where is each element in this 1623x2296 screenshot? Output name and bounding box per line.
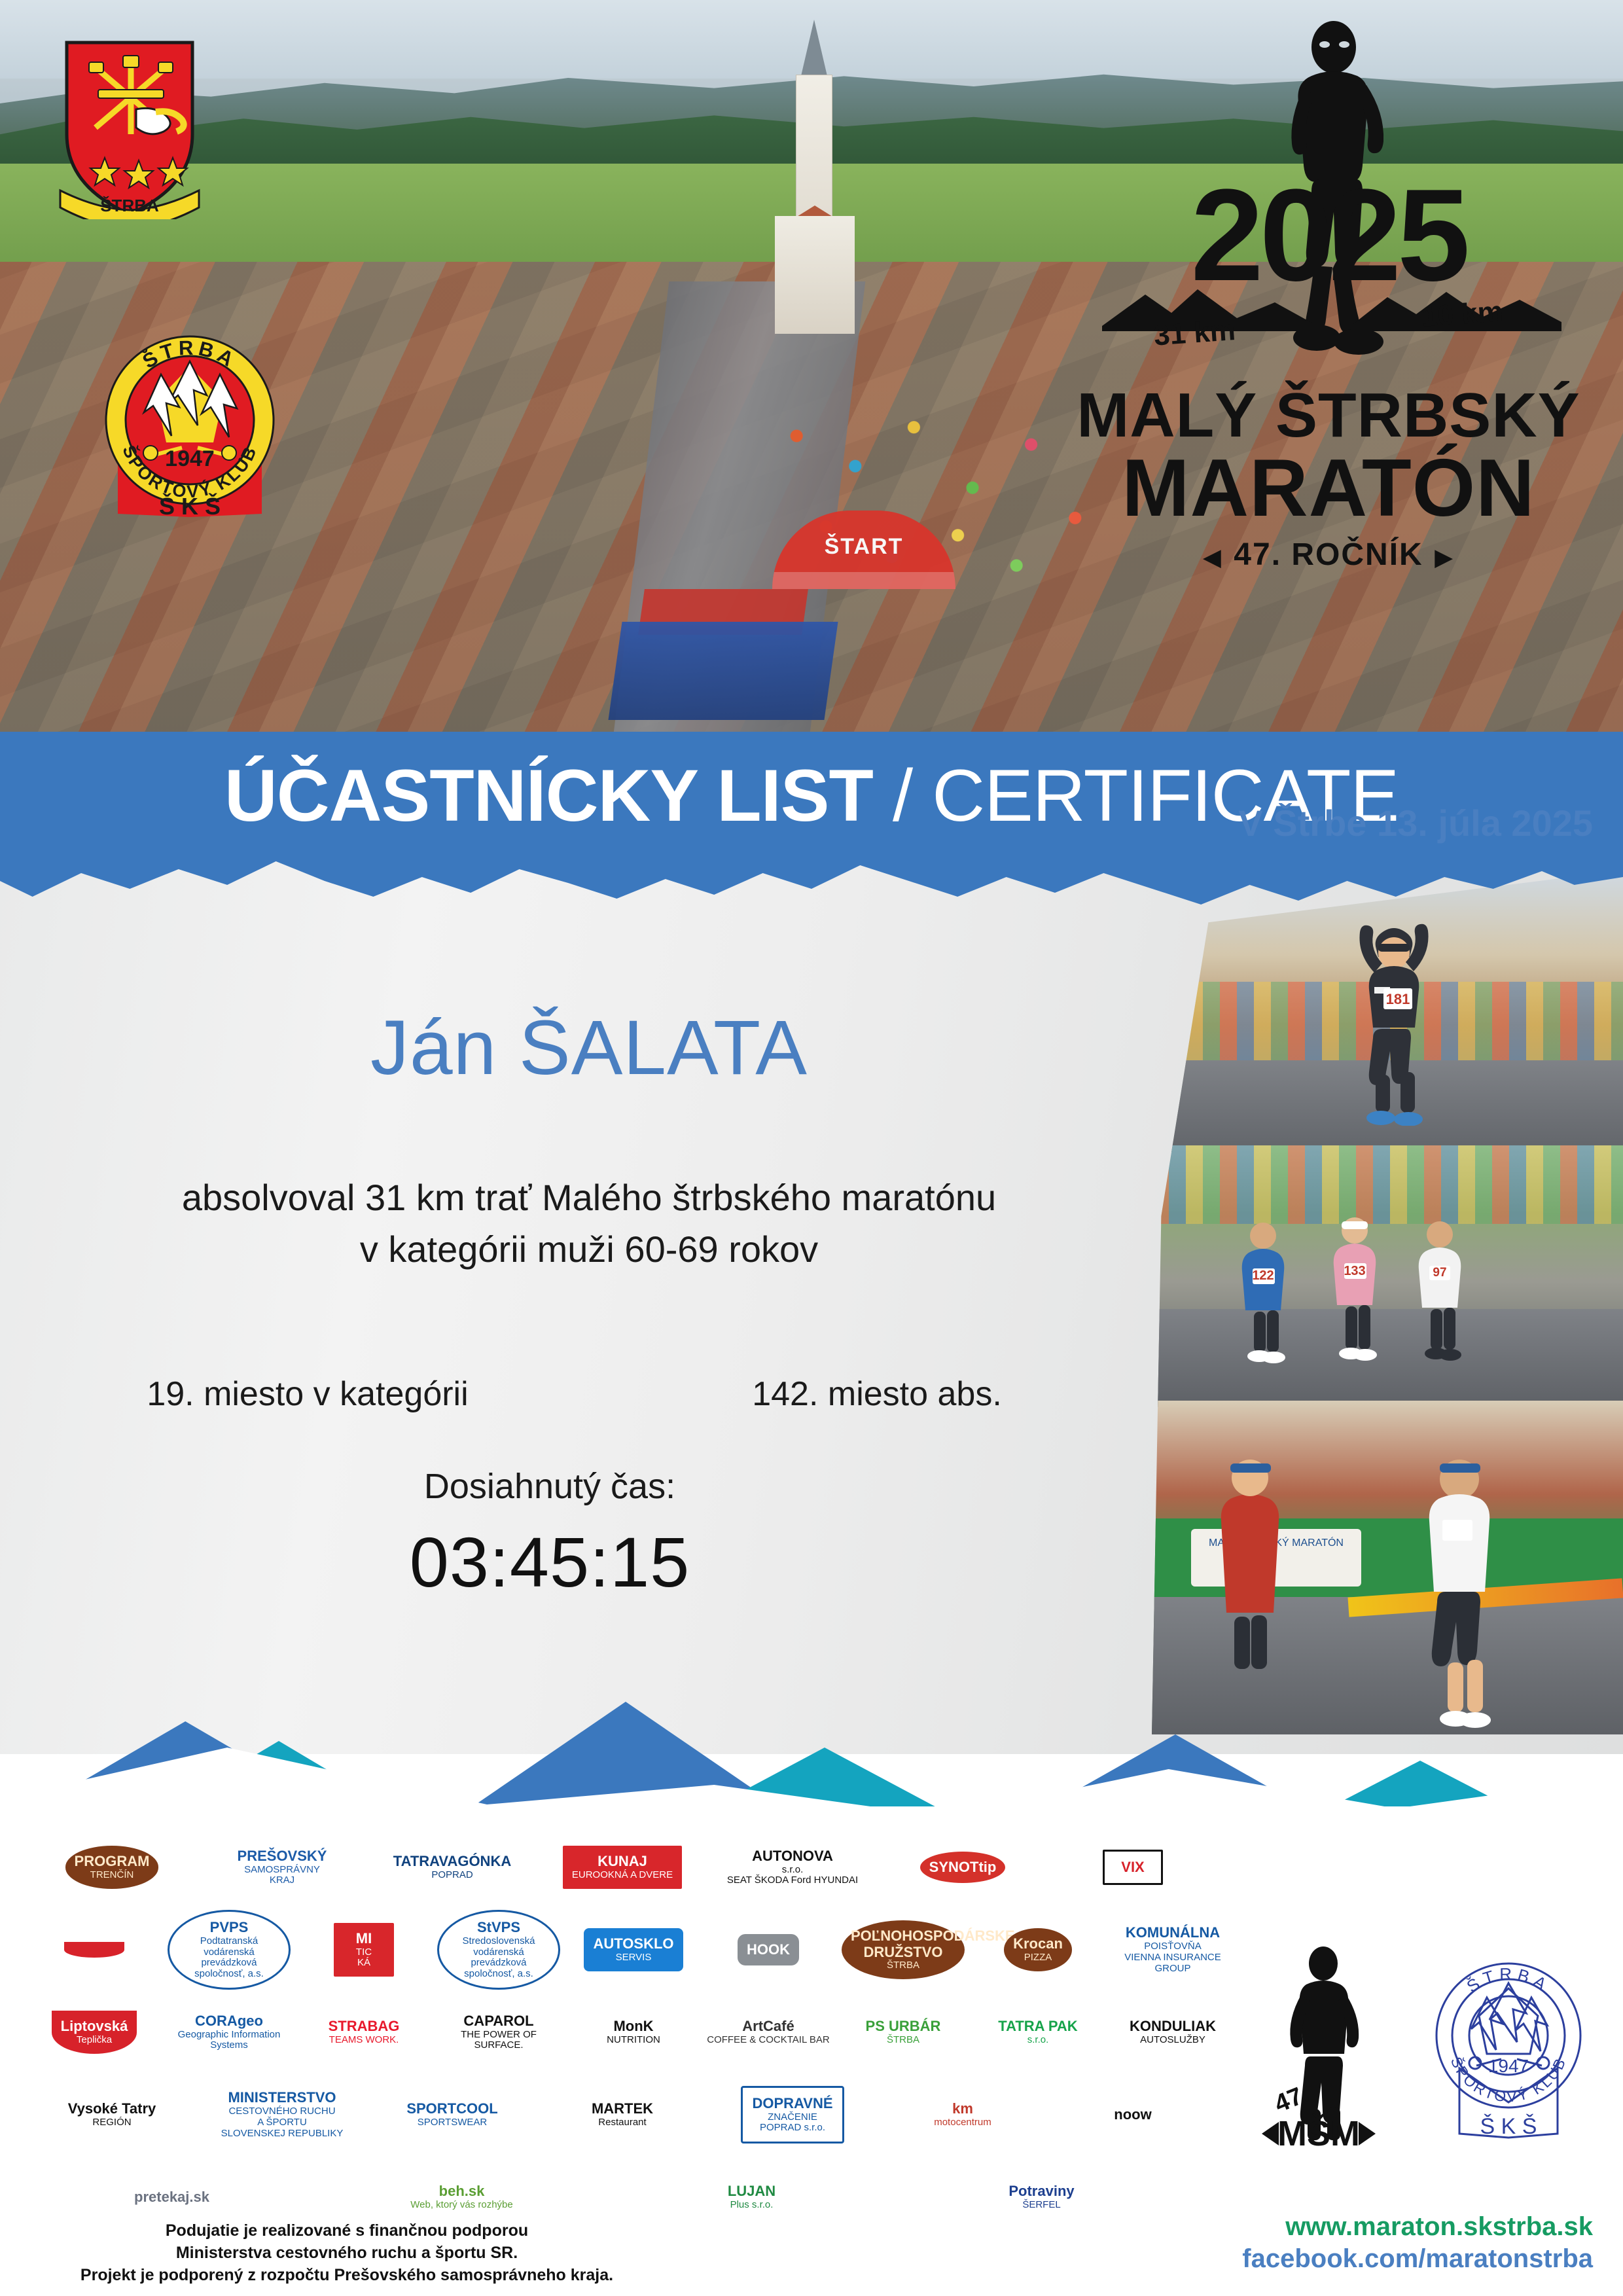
sponsor-grid: PROGRAMTRENČÍNPREŠOVSKÝSAMOSPRÁVNYKRAJTA… — [33, 1826, 1158, 2238]
placements: 19. miesto v kategórii 142. miesto abs. — [0, 1374, 1178, 1414]
sponsor-name: TATRA PAKs.r.o. — [998, 2018, 1077, 2045]
svg-text:ŠTRBA: ŠTRBA — [1463, 1964, 1554, 1996]
sponsor-name: MARTEKRestaurant — [592, 2101, 653, 2128]
sponsor-logo: PS URBÁRŠTRBA — [842, 1996, 965, 2069]
sponsor-logo: DOPRAVNÉZNAČENIEPOPRAD s.r.o. — [713, 2078, 872, 2151]
sponsor-name: noow — [1114, 2107, 1151, 2123]
sponsor-logo: TATRAVAGÓNKAPOPRAD — [373, 1831, 531, 1904]
sponsor-logo: SYNOTtip — [883, 1831, 1042, 1904]
sponsor-name — [64, 1942, 124, 1958]
church-spire — [801, 20, 827, 76]
sponsor-name: ArtCaféCOFFEE & COCKTAIL BAR — [707, 2018, 830, 2045]
sponsor-name: AUTONOVAs.r.o.SEAT ŠKODA Ford HYUNDAI — [727, 1848, 858, 1886]
sponsor-name: Vysoké TatryREGIÓN — [68, 2101, 156, 2128]
logo-edition: 47. ROČNÍK — [1060, 537, 1597, 573]
sponsor-logo: PVPSPodtatranská vodárenskáprevádzková s… — [168, 1913, 291, 1986]
sponsor-logo: noow — [1054, 2078, 1212, 2151]
sponsor-logo: ArtCaféCOFFEE & COCKTAIL BAR — [707, 1996, 830, 2069]
photo-runners-group: 122 133 97 — [1152, 1145, 1623, 1407]
stamp-msm-label: MŠM — [1277, 2113, 1360, 2153]
sponsor-logo: KrocanPIZZA — [976, 1913, 1099, 1986]
sponsor-row: PROGRAMTRENČÍNPREŠOVSKÝSAMOSPRÁVNYKRAJTA… — [33, 1826, 1158, 1909]
sponsor-name: StVPSStredoslovenská vodárenskáprevádzko… — [437, 1910, 560, 1990]
sponsor-name: KOMUNÁLNAPOISŤOVŇAVIENNA INSURANCE GROUP — [1111, 1925, 1234, 1974]
sponsor-logo: HOOK — [707, 1913, 830, 1986]
marathon-logo: 2025 31 km 10 km MALÝ ŠTRBSKÝ MARATÓN 47… — [1060, 20, 1597, 596]
sponsor-name: KONDULIAKAUTOSLUŽBY — [1130, 2018, 1216, 2045]
sponsor-name: TATRAVAGÓNKAPOPRAD — [393, 1854, 511, 1880]
sponsor-name: MINISTERSTVOCESTOVNÉHO RUCHUA ŠPORTUSLOV… — [221, 2090, 344, 2139]
distance-long: 31 km — [1153, 314, 1237, 353]
sponsor-name: AUTOSKLOSERVIS — [584, 1928, 683, 1971]
sponsor-name: PS URBÁRŠTRBA — [857, 2011, 950, 2053]
sponsor-row: LiptovskáTepličkaCORAgeoGeographic Infor… — [33, 1991, 1158, 2073]
sponsor-row: Vysoké TatryREGIÓNMINISTERSTVOCESTOVNÉHO… — [33, 2073, 1158, 2156]
sponsor-logo: CAPAROLTHE POWER OF SURFACE. — [437, 1996, 560, 2069]
sponsor-name: DOPRAVNÉZNAČENIEPOPRAD s.r.o. — [741, 2086, 844, 2144]
stamp-abbr: Š K Š — [1480, 2114, 1537, 2139]
sponsor-logo: PotravinyŠERFEL — [902, 2161, 1181, 2234]
stamp-year: 1947 — [1488, 2056, 1529, 2076]
sponsor-name: beh.skWeb, ktorý vás rozhýbe — [410, 2183, 512, 2210]
sponsor-name: CORAgeoGeographic Information Systems — [168, 2013, 291, 2051]
official-stamps: 47. MŠM 1947 ŠTRBA — [1250, 1937, 1584, 2153]
sponsor-name: STRABAGTEAMS WORK. — [329, 2018, 400, 2045]
sponsor-logo: PREŠOVSKÝSAMOSPRÁVNYKRAJ — [203, 1831, 361, 1904]
sponsor-logo: KUNAJEUROOKNÁ A DVERE — [543, 1831, 702, 1904]
runners-group-icon: 122 133 97 — [1152, 1145, 1623, 1407]
absolute-place: 142. miesto abs. — [589, 1374, 1178, 1414]
disclaimer-line-2: Ministerstva cestovného ruchu a športu S… — [52, 2242, 641, 2265]
msm-stamp: 47. MŠM — [1250, 1937, 1387, 2153]
distance-short: 10 km — [1421, 295, 1505, 334]
strba-crest-label: ŠTRBA — [100, 196, 159, 215]
sponsor-row: PVPSPodtatranská vodárenskáprevádzková s… — [33, 1909, 1158, 1991]
sponsor-logo: SPORTCOOLSPORTSWEAR — [373, 2078, 531, 2151]
stamp-top-label: ŠTRBA — [1463, 1964, 1554, 1996]
sponsor-name: POĽNOHOSPODÁRSKE DRUŽSTVOŠTRBA — [842, 1920, 965, 1979]
sponsor-name: PotravinyŠERFEL — [1008, 2183, 1074, 2210]
sponsor-logo — [33, 1913, 156, 1986]
sponsor-name: PREŠOVSKÝSAMOSPRÁVNYKRAJ — [238, 1848, 327, 1886]
sponsor-name: MonKNUTRITION — [607, 2018, 660, 2045]
sponsor-name: pretekaj.sk — [134, 2189, 209, 2206]
strba-coat-of-arms: ŠTRBA — [58, 36, 202, 219]
logo-title-line1: MALÝ ŠTRBSKÝ — [1060, 380, 1597, 452]
facebook-url[interactable]: facebook.com/maratonstrba — [1242, 2243, 1593, 2275]
sponsor-name: VIX — [1103, 1850, 1163, 1886]
sponsor-logo: KOMUNÁLNAPOISŤOVŇAVIENNA INSURANCE GROUP — [1111, 1913, 1234, 1986]
sponsor-logo: MARTEKRestaurant — [543, 2078, 702, 2151]
sponsor-name: PROGRAMTRENČÍN — [65, 1846, 159, 1888]
sks-stamp: 1947 ŠTRBA ŠPORTOVÝ KLUB Š K Š — [1433, 1937, 1584, 2153]
funding-disclaimer: Podujatie je realizované s finančnou pod… — [52, 2220, 641, 2286]
certificate-content: Ján ŠALATA absolvoval 31 km trať Malého … — [0, 1008, 1178, 1276]
club-abbr: Š K Š — [159, 492, 221, 517]
time-value: 03:45:15 — [0, 1521, 1099, 1603]
sponsor-logo: MonKNUTRITION — [572, 1996, 695, 2069]
sponsor-logo: MINISTERSTVOCESTOVNÉHO RUCHUA ŠPORTUSLOV… — [203, 2078, 361, 2151]
title-sk: ÚČASTNÍCKY LIST — [224, 755, 873, 836]
disclaimer-line-1: Podujatie je realizované s finančnou pod… — [52, 2220, 641, 2242]
bib-number: 181 — [1386, 991, 1410, 1007]
church-nave — [775, 216, 855, 334]
logo-title-line2: MARATÓN — [1060, 442, 1597, 535]
finish-time-block: Dosiahnutý čas: 03:45:15 — [0, 1466, 1099, 1603]
sponsor-logo: LUJANPlus s.r.o. — [613, 2161, 891, 2234]
female-runner-icon: 181 — [1335, 910, 1453, 1126]
start-arch-label: ŠTART — [772, 534, 955, 560]
sponsor-logo: kmmotocentrum — [883, 2078, 1042, 2151]
event-date: V Štrbe 13. júla 2025 — [1238, 802, 1593, 844]
website-url[interactable]: www.maraton.skstrba.sk — [1242, 2211, 1593, 2243]
time-label: Dosiahnutý čas: — [0, 1466, 1099, 1507]
sks-club-emblem: 1947 ŠTRBA ŠPORTOVÝ KLUB Š K Š — [98, 327, 281, 517]
category-place: 19. miesto v kategórii — [0, 1374, 589, 1414]
sponsor-logo: StVPSStredoslovenská vodárenskáprevádzko… — [437, 1913, 560, 1986]
sponsor-name: CAPAROLTHE POWER OF SURFACE. — [437, 2013, 560, 2051]
sponsor-logo: AUTOSKLOSERVIS — [572, 1913, 695, 1986]
participant-name: Ján ŠALATA — [0, 1008, 1178, 1089]
sponsor-name: LUJANPlus s.r.o. — [728, 2183, 776, 2210]
disclaimer-line-3: Projekt je podporený z rozpočtu Prešovsk… — [52, 2265, 641, 2287]
church — [772, 20, 857, 327]
contact-links: www.maraton.skstrba.sk facebook.com/mara… — [1242, 2211, 1593, 2275]
sponsor-name: KUNAJEUROOKNÁ A DVERE — [563, 1846, 682, 1888]
sponsor-logo: PROGRAMTRENČÍN — [33, 1831, 191, 1904]
blue-tent — [608, 622, 838, 720]
sponsor-logo: VIX — [1054, 1831, 1212, 1904]
sponsor-logo: CORAgeoGeographic Information Systems — [168, 1996, 291, 2069]
sponsor-logo: POĽNOHOSPODÁRSKE DRUŽSTVOŠTRBA — [842, 1913, 965, 1986]
club-year: 1947 — [165, 446, 215, 471]
sponsor-logo: Vysoké TatryREGIÓN — [33, 2078, 191, 2151]
sponsor-logo: STRABAGTEAMS WORK. — [302, 1996, 425, 2069]
photo-collage: 181 — [1152, 870, 1623, 1734]
sponsor-name: SYNOTtip — [920, 1852, 1006, 1884]
sponsor-logo: AUTONOVAs.r.o.SEAT ŠKODA Ford HYUNDAI — [713, 1831, 872, 1904]
sponsor-name: PVPSPodtatranská vodárenskáprevádzková s… — [168, 1910, 291, 1990]
bib-number: 97 — [1433, 1266, 1446, 1280]
sponsor-logo: MITICKÁ — [302, 1913, 425, 1986]
bib-number: 122 — [1252, 1268, 1274, 1283]
bib-number: 133 — [1344, 1264, 1365, 1278]
sponsor-name: SPORTCOOLSPORTSWEAR — [406, 2101, 497, 2128]
sponsor-logo: KONDULIAKAUTOSLUŽBY — [1111, 1996, 1234, 2069]
achievement-line-1: absolvoval 31 km trať Malého štrbského m… — [0, 1172, 1178, 1224]
sponsor-logo: LiptovskáTeplička — [33, 1996, 156, 2069]
sponsor-logo: TATRA PAKs.r.o. — [976, 1996, 1099, 2069]
achievement-line-2: v kategórii muži 60-69 rokov — [0, 1223, 1178, 1276]
sponsor-name: KrocanPIZZA — [1004, 1928, 1072, 1971]
sponsor-name: MITICKÁ — [334, 1923, 394, 1977]
sponsor-name: LiptovskáTeplička — [52, 2011, 137, 2053]
sponsor-name: kmmotocentrum — [934, 2101, 991, 2128]
sponsor-name: HOOK — [738, 1934, 799, 1966]
